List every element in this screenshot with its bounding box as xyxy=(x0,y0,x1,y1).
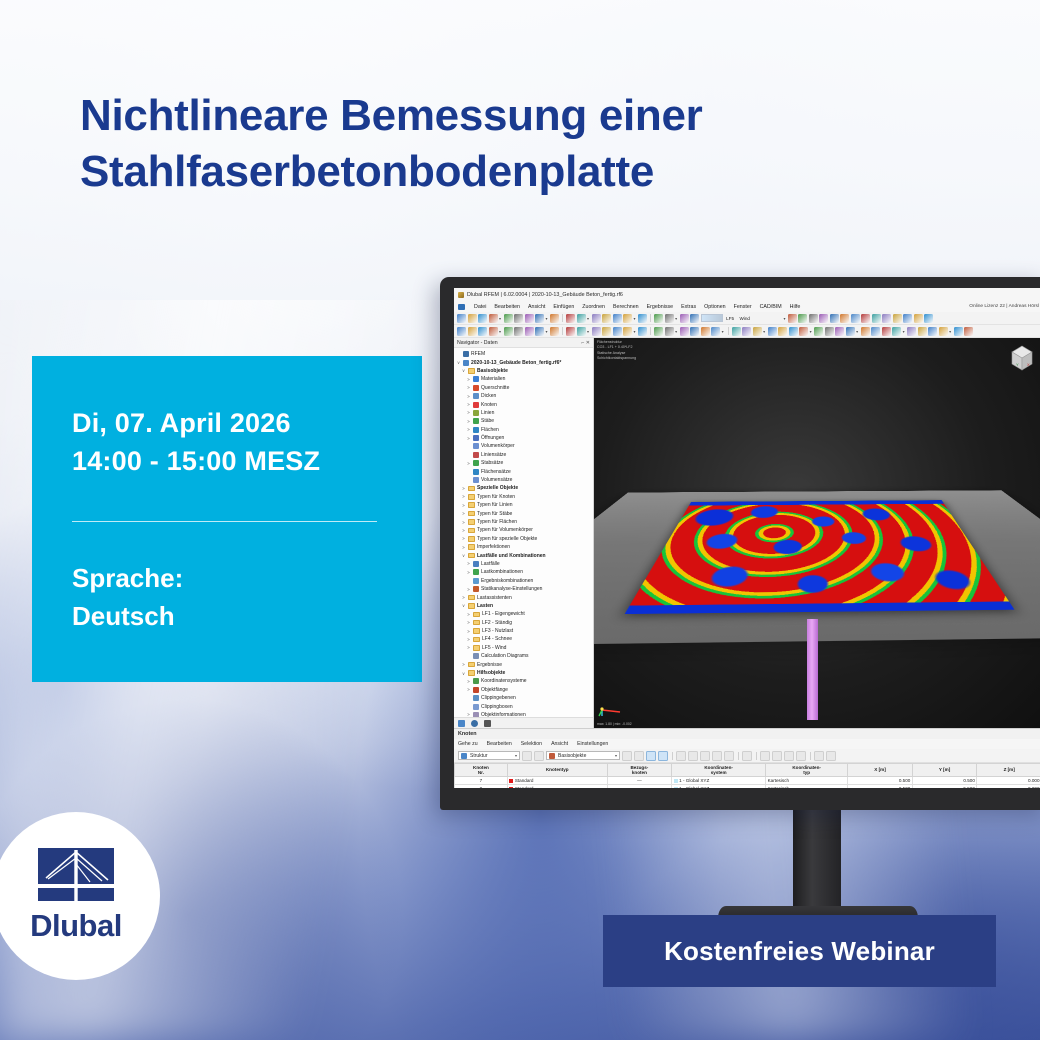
tree-item-33[interactable]: >LF5 - Wind xyxy=(456,644,593,652)
tree-expander-icon[interactable]: > xyxy=(461,528,466,533)
tree-expander-icon[interactable]: v xyxy=(456,360,461,365)
toolbar-icon-2[interactable] xyxy=(478,314,487,323)
col-bezugsknoten[interactable]: Bezugs-knoten xyxy=(607,764,672,777)
toolbar-icon-2[interactable] xyxy=(478,327,487,336)
banner-label: Kostenfreies Webinar xyxy=(664,936,935,967)
toolbar-icon-21[interactable] xyxy=(690,327,699,336)
toolbar-icon-11[interactable] xyxy=(577,314,586,323)
cell-knoten-nr[interactable]: 7 xyxy=(455,777,508,785)
toolbar-dropdown-caret-7[interactable]: ▾ xyxy=(546,316,548,321)
toolbar-icon-25[interactable] xyxy=(732,327,741,336)
table-menu-bearbeiten[interactable]: Bearbeiten xyxy=(487,741,512,747)
tree-expander-icon[interactable]: > xyxy=(461,503,466,508)
tree-expander-icon[interactable]: v xyxy=(461,368,466,373)
toolbar-right-icon-1[interactable] xyxy=(798,314,807,323)
toolbar-right-icon-8[interactable] xyxy=(872,314,881,323)
tree-expander-icon[interactable]: v xyxy=(461,603,466,608)
cell-koordinatentyp[interactable]: Kartesisch xyxy=(766,785,848,789)
tree-item-30[interactable]: >LF2 - Ständig xyxy=(456,619,593,627)
table-grid-icon-1[interactable] xyxy=(676,751,686,761)
tree-item-40[interactable]: Clippingboxen xyxy=(456,702,593,710)
toolbar-icon-0[interactable] xyxy=(457,327,466,336)
tree-item-label: Calculation Diagrams xyxy=(481,653,529,659)
toolbar-dropdown-caret-15[interactable]: ▾ xyxy=(634,329,636,334)
tree-item-label: Volumensätze xyxy=(481,477,512,483)
tree-item-16[interactable]: >Typen für Linien xyxy=(456,501,593,509)
tree-item-label: RFEM xyxy=(471,351,485,357)
toolbar-icon-13[interactable] xyxy=(602,314,611,323)
toolbar-icon-15[interactable] xyxy=(623,327,632,336)
tree-expander-icon[interactable]: > xyxy=(461,536,466,541)
tree-expander-icon[interactable]: > xyxy=(466,612,471,617)
toolbar-dropdown-caret-23[interactable]: ▾ xyxy=(722,329,724,334)
toolbar-icon-3[interactable] xyxy=(489,327,498,336)
toolbar-icon-4[interactable] xyxy=(504,314,513,323)
menu-item-bearbeiten[interactable]: Bearbeiten xyxy=(494,304,520,310)
toolbar-right-icon-6[interactable] xyxy=(851,314,860,323)
tree-project[interactable]: v2020-10-13_Gebäude Beton_fertig.rf6* xyxy=(456,358,593,366)
toolbar-icon-30[interactable] xyxy=(789,327,798,336)
toolbar-icon-18[interactable] xyxy=(654,314,663,323)
menu-item-datei[interactable]: Datei xyxy=(474,304,486,310)
table-row-insert-icon[interactable] xyxy=(760,751,770,761)
tree-item-label: Clippingboxen xyxy=(481,704,513,710)
tree-item-34[interactable]: Calculation Diagrams xyxy=(456,652,593,660)
webinar-banner: Kostenfreies Webinar xyxy=(603,915,996,987)
toolbar-right-icon-4[interactable] xyxy=(830,314,839,323)
item-icon xyxy=(473,427,479,433)
object-prev-button[interactable] xyxy=(622,751,632,761)
toolbar-right-icon-0[interactable] xyxy=(788,314,797,323)
tree-expander-icon[interactable]: v xyxy=(461,671,466,676)
item-icon xyxy=(473,704,479,710)
tree-item-8[interactable]: >Öffnungen xyxy=(456,434,593,442)
toolbar-right-icon-7[interactable] xyxy=(861,314,870,323)
item-icon xyxy=(473,402,479,408)
toolbar-icon-12[interactable] xyxy=(592,314,601,323)
toolbar-icon-27[interactable] xyxy=(753,327,762,336)
table-row[interactable]: 7Standard—1 - Global XYZKartesisch0.5000… xyxy=(455,777,1040,785)
tree-item-9[interactable]: Volumenkörper xyxy=(456,442,593,450)
item-icon xyxy=(473,586,479,592)
toolbar-icon-0[interactable] xyxy=(457,314,466,323)
toolbar-right-icon-11[interactable] xyxy=(903,314,912,323)
tree-item-24[interactable]: >Lastkombinationen xyxy=(456,568,593,576)
col-x[interactable]: X [m] xyxy=(848,764,913,777)
navigator-header: Navigator - Daten ⌐ ✕ xyxy=(454,338,593,348)
tree-item-label: Linien xyxy=(481,410,494,416)
tree-item-27[interactable]: >Lastassistenten xyxy=(456,593,593,601)
toolbar-dropdown-caret-11[interactable]: ▾ xyxy=(587,329,589,334)
tree-item-label: Flächensätze xyxy=(481,469,511,475)
folder-icon xyxy=(468,368,475,374)
tree-expander-icon[interactable]: > xyxy=(466,570,471,575)
folder-icon xyxy=(473,628,480,634)
cell-z[interactable]: 0.000 xyxy=(977,785,1040,789)
tree-item-label: Materialien xyxy=(481,376,505,382)
toolbar-right-icon-2[interactable] xyxy=(809,314,818,323)
tree-item-label: Typen für Stäbe xyxy=(477,511,512,517)
toolbar-icon-38[interactable] xyxy=(882,327,891,336)
tree-item-1[interactable]: >Materialien xyxy=(456,375,593,383)
menu-item-berechnen[interactable]: Berechnen xyxy=(613,304,639,310)
tree-item-37[interactable]: >Koordinatensysteme xyxy=(456,677,593,685)
toolbar-dropdown-caret-15[interactable]: ▾ xyxy=(634,316,636,321)
object-next-button[interactable] xyxy=(634,751,644,761)
tree-expander-icon[interactable]: > xyxy=(466,377,471,382)
tree-item-4[interactable]: >Knoten xyxy=(456,400,593,408)
tree-item-label: Lastfälle xyxy=(481,561,500,567)
tree-item-19[interactable]: >Typen für Volumenkörper xyxy=(456,526,593,534)
tree-expander-icon[interactable]: > xyxy=(466,385,471,390)
col-koordinatensystem[interactable]: Koordinaten-system xyxy=(672,764,766,777)
tree-item-35[interactable]: >Ergebnisse xyxy=(456,660,593,668)
toolbar-dropdown-caret-31[interactable]: ▾ xyxy=(810,329,812,334)
toolbar-icon-45[interactable] xyxy=(964,327,973,336)
tree-item-20[interactable]: >Typen für spezielle Objekte xyxy=(456,535,593,543)
toolbar-icon-21[interactable] xyxy=(690,314,699,323)
tree-item-label: Lasten xyxy=(477,603,493,609)
menu-item-fenster[interactable]: Fenster xyxy=(734,304,752,310)
toolbar-icon-34[interactable] xyxy=(835,327,844,336)
toolbar-right-icon-3[interactable] xyxy=(819,314,828,323)
col-z[interactable]: Z [m] xyxy=(977,764,1040,777)
table-menu-einstellungen[interactable]: Einstellungen xyxy=(577,741,608,747)
tree-item-0[interactable]: vBasisobjekte xyxy=(456,367,593,375)
tree-item-label: Stäbe xyxy=(481,418,494,424)
menu-item-einfuegen[interactable]: Einfügen xyxy=(553,304,574,310)
item-icon xyxy=(473,385,479,391)
toolbar-dropdown-caret-19[interactable]: ▾ xyxy=(675,329,677,334)
toolbar-dropdown-caret-35[interactable]: ▾ xyxy=(856,329,858,334)
col-y[interactable]: Y [m] xyxy=(912,764,977,777)
toolbar-icon-40[interactable] xyxy=(907,327,916,336)
webinar-info-box: Di, 07. April 2026 14:00 - 15:00 MESZ Sp… xyxy=(32,356,422,682)
tree-item-5[interactable]: >Linien xyxy=(456,409,593,417)
toolbar-icon-5[interactable] xyxy=(514,327,523,336)
toolbar-icon-20[interactable] xyxy=(680,314,689,323)
item-icon xyxy=(473,695,479,701)
cell-bezugsknoten[interactable]: — xyxy=(607,777,672,785)
tree-item-25[interactable]: Ergebniskombinationen xyxy=(456,577,593,585)
toolbar-icon-36[interactable] xyxy=(861,327,870,336)
tree-item-label: 2020-10-13_Gebäude Beton_fertig.rf6* xyxy=(471,360,561,366)
toolbar-icon-23[interactable] xyxy=(711,327,720,336)
tree-item-7[interactable]: >Flächen xyxy=(456,426,593,434)
tree-expander-icon[interactable]: > xyxy=(466,427,471,432)
rfem-icon xyxy=(463,351,469,357)
toolbar-icon-15[interactable] xyxy=(623,314,632,323)
viewport-scale-note: max: 1.80 | min: -0.002 xyxy=(597,722,632,726)
toolbar-icon-8[interactable] xyxy=(550,327,559,336)
menu-item-ergebnisse[interactable]: Ergebnisse xyxy=(647,304,674,310)
table-row-delete-icon[interactable] xyxy=(772,751,782,761)
toolbar-icon-19[interactable] xyxy=(665,327,674,336)
item-icon xyxy=(473,653,479,659)
col-koordinatentyp[interactable]: Koordinaten-typ xyxy=(766,764,848,777)
tree-expander-icon[interactable]: > xyxy=(466,637,471,642)
toolbar-icon-12[interactable] xyxy=(592,327,601,336)
scope-next-button[interactable] xyxy=(534,751,544,761)
pick-select-icon[interactable] xyxy=(658,751,668,761)
scope-prev-button[interactable] xyxy=(522,751,532,761)
toolbar-icon-28[interactable] xyxy=(768,327,777,336)
table-filter-icon[interactable] xyxy=(742,751,752,761)
table-header-row: KnotenNr. Knotentyp Bezugs-knoten Koordi… xyxy=(455,764,1040,777)
tree-expander-icon[interactable]: > xyxy=(466,687,471,692)
tree-expander-icon[interactable]: > xyxy=(466,461,471,466)
toolbar-right-icon-9[interactable] xyxy=(882,314,891,323)
table-body[interactable]: 7Standard—1 - Global XYZKartesisch0.5000… xyxy=(455,777,1040,789)
tree-item-label: Typen für Flächen xyxy=(477,519,517,525)
table-menu-selektion[interactable]: Selektion xyxy=(521,741,542,747)
tree-expander-icon[interactable]: > xyxy=(466,629,471,634)
cell-koordinatensystem[interactable]: 1 - Global XYZ xyxy=(672,785,766,789)
toolbar-icon-37[interactable] xyxy=(871,327,880,336)
toolbar-icon-16[interactable] xyxy=(638,314,647,323)
tree-expander-icon[interactable]: > xyxy=(466,394,471,399)
folder-icon xyxy=(468,603,475,609)
webinar-date: Di, 07. April 2026 xyxy=(72,404,422,442)
table-grid-icon-3[interactable] xyxy=(700,751,710,761)
tree-expander-icon[interactable]: > xyxy=(461,595,466,600)
toolbar-dropdown-caret-7[interactable]: ▾ xyxy=(546,329,548,334)
tree-expander-icon[interactable]: > xyxy=(466,436,471,441)
slab-edge-band xyxy=(624,501,1013,615)
navigator-visibility-icon[interactable] xyxy=(471,720,478,727)
toolbar-dropdown-caret-43[interactable]: ▾ xyxy=(949,329,951,334)
tree-item-21[interactable]: >Imperfektionen xyxy=(456,543,593,551)
table-scope-value: Struktur xyxy=(470,753,512,759)
item-icon xyxy=(473,443,479,449)
loadcase-color-field[interactable] xyxy=(701,314,723,322)
toolbar-right-icon-13[interactable] xyxy=(924,314,933,323)
toolbar-icon-43[interactable] xyxy=(939,327,948,336)
tree-item-6[interactable]: >Stäbe xyxy=(456,417,593,425)
toolbar-right-icon-12[interactable] xyxy=(914,314,923,323)
item-icon xyxy=(473,393,479,399)
navigator-data-icon[interactable] xyxy=(458,720,465,727)
col-knotentyp[interactable]: Knotentyp xyxy=(507,764,607,777)
tree-item-10[interactable]: Liniensätze xyxy=(456,451,593,459)
navigator-views-icon[interactable] xyxy=(484,720,491,727)
toolbar-icon-7[interactable] xyxy=(535,314,544,323)
tree-expander-icon[interactable]: > xyxy=(466,679,471,684)
toolbar-dropdown-caret-39[interactable]: ▾ xyxy=(903,329,905,334)
tree-item-11[interactable]: >Stabsätze xyxy=(456,459,593,467)
tree-item-label: Imperfektionen xyxy=(477,544,510,550)
toolbar-icon-19[interactable] xyxy=(665,314,674,323)
table-menu-ansicht[interactable]: Ansicht xyxy=(551,741,568,747)
toolbar-icon-31[interactable] xyxy=(799,327,808,336)
navigator-tree[interactable]: RFEMv2020-10-13_Gebäude Beton_fertig.rf6… xyxy=(454,348,593,717)
folder-icon xyxy=(468,670,475,676)
toolbar-icon-39[interactable] xyxy=(892,327,901,336)
nodes-table[interactable]: KnotenNr. Knotentyp Bezugs-knoten Koordi… xyxy=(454,763,1040,788)
tree-expander-icon[interactable]: v xyxy=(461,553,466,558)
cell-x[interactable]: 0.500 xyxy=(848,777,913,785)
tree-expander-icon[interactable]: > xyxy=(461,545,466,550)
toolbar-dropdown-caret-3[interactable]: ▾ xyxy=(499,316,501,321)
folder-icon xyxy=(468,553,475,559)
toolbar-icon-6[interactable] xyxy=(525,327,534,336)
toolbar-right-icon-10[interactable] xyxy=(893,314,902,323)
toolbar-icon-20[interactable] xyxy=(680,327,689,336)
toolbar-icon-8[interactable] xyxy=(550,314,559,323)
toolbar-dropdown-caret-27[interactable]: ▾ xyxy=(763,329,765,334)
toolbar-icon-10[interactable] xyxy=(566,314,575,323)
tree-item-38[interactable]: >Objektfänge xyxy=(456,686,593,694)
tree-expander-icon[interactable]: > xyxy=(461,520,466,525)
toolbar-icon-13[interactable] xyxy=(602,327,611,336)
tree-item-32[interactable]: >LF4 - Schnee xyxy=(456,635,593,643)
tree-item-15[interactable]: >Typen für Knoten xyxy=(456,493,593,501)
tree-expander-icon[interactable]: > xyxy=(466,561,471,566)
tree-item-18[interactable]: >Typen für Flächen xyxy=(456,518,593,526)
toolbar-icon-18[interactable] xyxy=(654,327,663,336)
toolbar-icon-29[interactable] xyxy=(778,327,787,336)
tree-item-23[interactable]: >Lastfälle xyxy=(456,560,593,568)
navigator-close-icon[interactable]: ⌐ ✕ xyxy=(582,340,591,346)
menu-item-ansicht[interactable]: Ansicht xyxy=(528,304,545,310)
zoom-select-icon[interactable] xyxy=(646,751,656,761)
tree-expander-icon[interactable]: > xyxy=(466,645,471,650)
work-area: Navigator - Daten ⌐ ✕ RFEMv2020-10-13_Ge… xyxy=(454,338,1040,728)
tree-item-22[interactable]: vLastfälle und Kombinationen xyxy=(456,551,593,559)
table-row[interactable]: 8Standard—1 - Global XYZKartesisch0.5005… xyxy=(455,785,1040,789)
toolbar-icon-7[interactable] xyxy=(535,327,544,336)
tree-item-31[interactable]: >LF3 - Nutzlast xyxy=(456,627,593,635)
toolbar-icon-35[interactable] xyxy=(846,327,855,336)
tree-expander-icon[interactable]: > xyxy=(466,587,471,592)
toolbar-icon-32[interactable] xyxy=(814,327,823,336)
toolbar-icon-5[interactable] xyxy=(514,314,523,323)
toolbar-right-icon-5[interactable] xyxy=(840,314,849,323)
3d-viewport[interactable]: FlächenstrukturCO3 - LF1 + 0.40*LF2Stati… xyxy=(594,338,1040,728)
table-row-move-icon[interactable] xyxy=(784,751,794,761)
toolbar-dropdown-caret-3[interactable]: ▾ xyxy=(499,329,501,334)
view-cube-icon[interactable]: Y X xyxy=(1009,344,1035,374)
loadcase-dropdown-caret[interactable]: ▾ xyxy=(783,316,785,321)
cell-y[interactable]: 5.500 xyxy=(912,785,977,789)
table-object-combo[interactable]: Basisobjekte ▾ xyxy=(546,751,620,760)
monitor-bezel: Dlubal RFEM | 6.02.0004 | 2020-10-13_Geb… xyxy=(440,277,1040,810)
menu-item-hilfe[interactable]: Hilfe xyxy=(790,304,801,310)
tree-item-label: Lastkombinationen xyxy=(481,569,523,575)
tree-item-14[interactable]: >Spezielle Objekte xyxy=(456,484,593,492)
toolbar-icon-41[interactable] xyxy=(918,327,927,336)
tree-item-3[interactable]: >Dicken xyxy=(456,392,593,400)
tree-expander-icon[interactable]: > xyxy=(461,511,466,516)
license-info: Online Lizenz 22 | Andreas Hörsl xyxy=(969,304,1039,309)
item-icon xyxy=(473,678,479,684)
cell-x[interactable]: 0.500 xyxy=(848,785,913,789)
toolbar-icon-6[interactable] xyxy=(525,314,534,323)
toolbar-icon-1[interactable] xyxy=(468,314,477,323)
toolbar-dropdown-caret-11[interactable]: ▾ xyxy=(587,316,589,321)
toolbar-icon-22[interactable] xyxy=(701,327,710,336)
cell-koordinatensystem[interactable]: 1 - Global XYZ xyxy=(672,777,766,785)
toolbar-icon-33[interactable] xyxy=(825,327,834,336)
menu-item-extras[interactable]: Extras xyxy=(681,304,696,310)
tree-item-36[interactable]: vHilfsobjekte xyxy=(456,669,593,677)
tree-expander-icon[interactable]: > xyxy=(466,419,471,424)
window-menu-icon[interactable] xyxy=(458,304,465,310)
toolbar-icon-44[interactable] xyxy=(954,327,963,336)
cell-knotentyp[interactable]: Standard xyxy=(507,785,607,789)
tree-expander-icon[interactable]: > xyxy=(466,410,471,415)
tree-item-39[interactable]: Clippingebenen xyxy=(456,694,593,702)
loadcase-name-label: Wind xyxy=(740,316,750,321)
tree-expander-icon[interactable]: > xyxy=(461,494,466,499)
chevron-down-icon: ▾ xyxy=(515,753,517,758)
toolbar-icon-14[interactable] xyxy=(613,327,622,336)
toolbar-icon-10[interactable] xyxy=(566,327,575,336)
toolbar-icon-26[interactable] xyxy=(742,327,751,336)
table-scope-combo[interactable]: Struktur ▾ xyxy=(458,751,520,760)
tree-item-label: Typen für Linien xyxy=(477,502,513,508)
folder-icon xyxy=(468,662,475,668)
table-help-icon[interactable] xyxy=(826,751,836,761)
toolbar-dropdown-caret-19[interactable]: ▾ xyxy=(675,316,677,321)
toolbar-icon-42[interactable] xyxy=(928,327,937,336)
table-grid-icon-2[interactable] xyxy=(688,751,698,761)
cell-koordinatentyp[interactable]: Kartesisch xyxy=(766,777,848,785)
tree-expander-icon[interactable]: > xyxy=(466,402,471,407)
cell-knotentyp[interactable]: Standard xyxy=(507,777,607,785)
toolbar-icon-1[interactable] xyxy=(468,327,477,336)
toolbar-icon-4[interactable] xyxy=(504,327,513,336)
menu-item-zuordnen[interactable]: Zuordnen xyxy=(582,304,605,310)
toolbar-icon-16[interactable] xyxy=(638,327,647,336)
cell-knoten-nr[interactable]: 8 xyxy=(455,785,508,789)
contour-result-slab xyxy=(624,501,1013,615)
tree-item-29[interactable]: >LF1 - Eigengewicht xyxy=(456,610,593,618)
cell-z[interactable]: 0.000 xyxy=(977,777,1040,785)
tree-item-2[interactable]: >Querschnitte xyxy=(456,384,593,392)
cell-bezugsknoten[interactable]: — xyxy=(607,785,672,789)
toolbar-icon-3[interactable] xyxy=(489,314,498,323)
toolbar-icon-14[interactable] xyxy=(613,314,622,323)
tree-expander-icon[interactable]: > xyxy=(461,486,466,491)
tree-item-label: Hilfsobjekte xyxy=(477,670,505,676)
folder-icon xyxy=(468,502,475,508)
item-icon xyxy=(473,578,479,584)
tree-item-28[interactable]: vLasten xyxy=(456,602,593,610)
tree-item-label: Basisobjekte xyxy=(477,368,508,374)
menu-item-optionen[interactable]: Optionen xyxy=(704,304,726,310)
table-settings-icon[interactable] xyxy=(814,751,824,761)
tree-expander-icon[interactable]: > xyxy=(466,620,471,625)
tree-expander-icon[interactable]: > xyxy=(461,662,466,667)
table-menu-gehezu[interactable]: Gehe zu xyxy=(458,741,478,747)
table-export-icon[interactable] xyxy=(796,751,806,761)
menu-item-cadbim[interactable]: CAD/BIM xyxy=(760,304,782,310)
tree-item-26[interactable]: >Statikanalyse-Einstellungen xyxy=(456,585,593,593)
objects-icon xyxy=(549,753,555,759)
table-grid-icon-5[interactable] xyxy=(724,751,734,761)
tree-item-13[interactable]: Volumensätze xyxy=(456,476,593,484)
cell-y[interactable]: 0.500 xyxy=(912,777,977,785)
tree-item-12[interactable]: Flächensätze xyxy=(456,467,593,475)
dlubal-wordmark: Dlubal xyxy=(30,908,122,944)
tree-root-rfem[interactable]: RFEM xyxy=(456,350,593,358)
toolbar-icon-11[interactable] xyxy=(577,327,586,336)
table-grid-icon-4[interactable] xyxy=(712,751,722,761)
col-knoten-nr[interactable]: KnotenNr. xyxy=(455,764,508,777)
toolbar-secondary: ▾▾▾▾▾▾▾▾▾▾▾ xyxy=(454,325,1040,338)
tree-item-17[interactable]: >Typen für Stäbe xyxy=(456,509,593,517)
